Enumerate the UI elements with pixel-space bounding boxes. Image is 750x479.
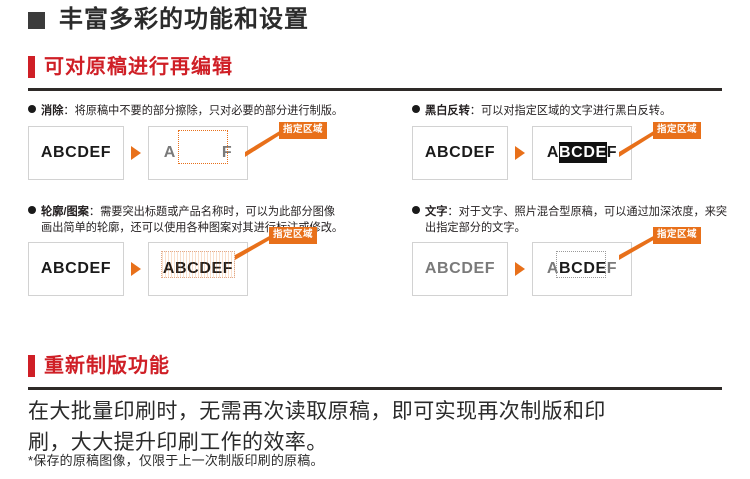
section1-heading-text: 可对原稿进行再编辑 [44, 57, 233, 77]
feature-erase-description: 消除：将原稿中不要的部分擦除，只对必要的部分进行制版。 [28, 104, 408, 120]
feature-erase-samples: ABCDEF A F [28, 126, 408, 180]
triangle-right-icon [515, 262, 525, 276]
feature-erase-label: 消除 [41, 105, 63, 117]
selected-region-outline [556, 251, 606, 278]
feature-invert-desc-line1: 可以对指定区域的文字进行黑白反转。 [481, 105, 671, 117]
red-bar-icon [28, 355, 35, 377]
feature-text-density-label: 文字 [425, 206, 447, 218]
feature-invert-after-right: F [607, 144, 617, 161]
bullet-dot-icon [412, 206, 420, 214]
feature-text-density-separator: ： [447, 206, 458, 218]
triangle-right-icon [131, 262, 141, 276]
feature-invert-samples: ABCDEF ABCDEF [412, 126, 750, 180]
feature-erase: 消除：将原稿中不要的部分擦除，只对必要的部分进行制版。 ABCDEF A F 指… [28, 104, 408, 180]
feature-text-density-before-box: ABCDEF [412, 242, 508, 296]
feature-invert-after-mid: BCDE [559, 142, 607, 163]
feature-text-density-after-box: ABCDEF [532, 242, 632, 296]
feature-erase-after-left: A [164, 144, 176, 162]
section2-heading: 重新制版功能 [28, 355, 170, 377]
feature-outline-pattern-label: 轮廓/图案 [41, 206, 89, 218]
feature-invert-separator: ： [470, 105, 481, 117]
page-title: 丰富多彩的功能和设置 [28, 8, 309, 32]
section2-note: *保存的原稿图像，仅限于上一次制版印刷的原稿。 [28, 450, 324, 469]
feature-outline-pattern-before-box: ABCDEF [28, 242, 124, 296]
feature-invert-description: 黑白反转：可以对指定区域的文字进行黑白反转。 [412, 104, 750, 120]
section1-heading: 可对原稿进行再编辑 [28, 56, 233, 78]
feature-outline-pattern-samples: ABCDEF ABCDEF [28, 242, 408, 296]
feature-invert-label: 黑白反转 [425, 105, 470, 117]
feature-outline-pattern-desc-line2: 画出简单的轮廓，还可以使用各种图案对其进行标注或修改。 [28, 221, 408, 237]
feature-text-density-after-right: F [607, 260, 617, 277]
feature-outline-pattern: 轮廓/图案：需要突出标题或产品名称时，可以为此部分图像 画出简单的轮廓，还可以使… [28, 205, 408, 296]
page-title-text: 丰富多彩的功能和设置 [59, 8, 309, 32]
feature-invert-after-left: A [547, 144, 559, 161]
feature-outline-pattern-after-box: ABCDEF [148, 242, 248, 296]
section2-body: 在大批量印刷时，无需再次读取原稿，即可实现再次制版和印 刷，大大提升印刷工作的效… [28, 396, 728, 458]
feature-outline-pattern-separator: ： [89, 206, 100, 218]
feature-text-density-description: 文字：对于文字、照片混合型原稿，可以通过加深浓度，来突 出指定部分的文字。 [412, 205, 750, 236]
section2-heading-text: 重新制版功能 [44, 356, 170, 376]
feature-invert-before-box: ABCDEF [412, 126, 508, 180]
bullet-dot-icon [28, 206, 36, 214]
feature-erase-desc-line1: 将原稿中不要的部分擦除，只对必要的部分进行制版。 [75, 105, 344, 117]
feature-outline-pattern-description: 轮廓/图案：需要突出标题或产品名称时，可以为此部分图像 画出简单的轮廓，还可以使… [28, 205, 408, 236]
bullet-dot-icon [412, 105, 420, 113]
feature-erase-before-text: ABCDEF [41, 144, 111, 162]
triangle-right-icon [131, 146, 141, 160]
pattern-fill-overlay [161, 251, 235, 278]
feature-invert: 黑白反转：可以对指定区域的文字进行黑白反转。 ABCDEF ABCDEF 指定区… [412, 104, 750, 180]
section2-divider [28, 387, 722, 390]
feature-outline-pattern-desc-line1: 需要突出标题或产品名称时，可以为此部分图像 [100, 206, 335, 218]
feature-text-density-desc-line1: 对于文字、照片混合型原稿，可以通过加深浓度，来突 [459, 206, 728, 218]
feature-erase-region: A F [164, 144, 233, 162]
feature-text-density-desc-line2: 出指定部分的文字。 [412, 221, 750, 237]
feature-erase-after-box: A F [148, 126, 248, 180]
feature-invert-after-box: ABCDEF [532, 126, 632, 180]
section1-divider [28, 88, 722, 91]
red-bar-icon [28, 56, 35, 78]
feature-outline-pattern-region: ABCDEF [163, 260, 233, 278]
feature-invert-before-text: ABCDEF [425, 144, 495, 162]
feature-text-density-after-text: ABCDEF [547, 260, 617, 278]
page-root: 丰富多彩的功能和设置 可对原稿进行再编辑 消除：将原稿中不要的部分擦除，只对必要… [0, 0, 750, 479]
feature-outline-pattern-before-text: ABCDEF [41, 260, 111, 278]
section2-body-line1: 在大批量印刷时，无需再次读取原稿，即可实现再次制版和印 [28, 400, 606, 423]
feature-erase-before-box: ABCDEF [28, 126, 124, 180]
feature-erase-separator: ： [63, 105, 74, 117]
square-bullet-icon [28, 12, 45, 29]
selected-region-outline [178, 130, 228, 164]
feature-text-density-samples: ABCDEF ABCDEF [412, 242, 750, 296]
triangle-right-icon [515, 146, 525, 160]
feature-text-density: 文字：对于文字、照片混合型原稿，可以通过加深浓度，来突 出指定部分的文字。 AB… [412, 205, 750, 296]
bullet-dot-icon [28, 105, 36, 113]
feature-text-density-before-text: ABCDEF [425, 260, 495, 278]
feature-invert-after-text: ABCDEF [547, 144, 617, 162]
